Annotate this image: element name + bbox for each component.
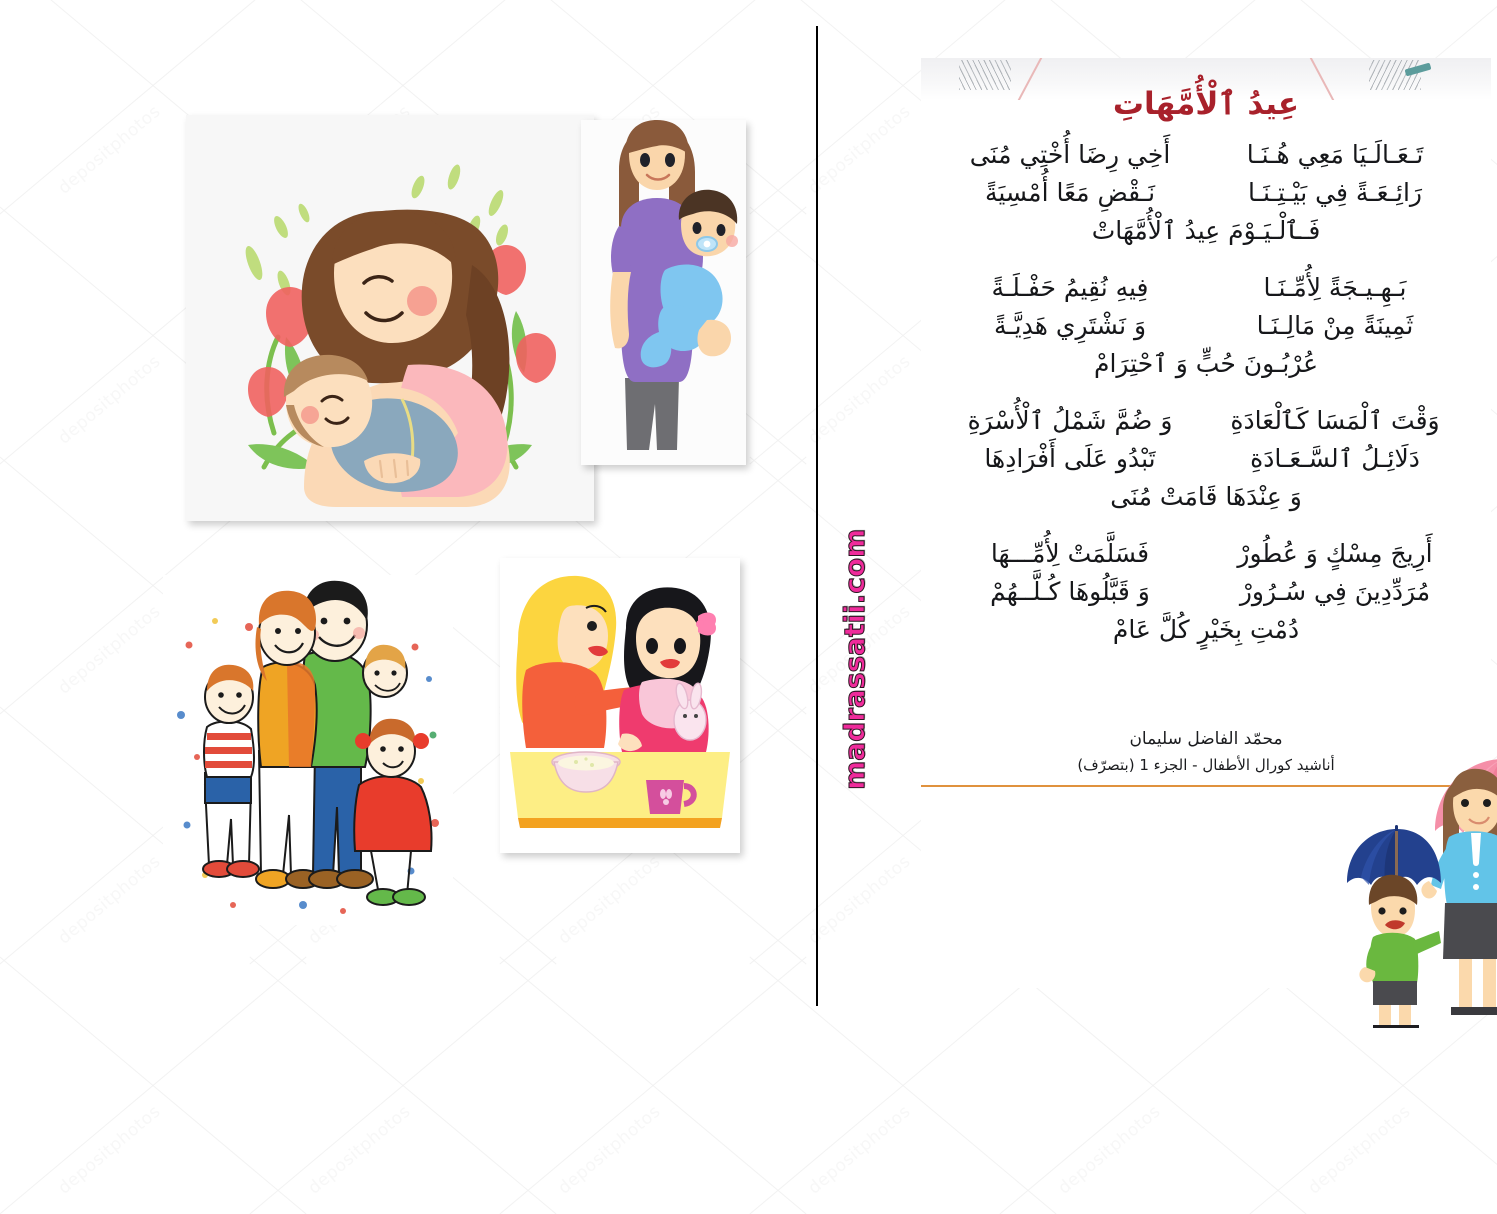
poem-refrain: عُرْبُـونَ حُبٍّ وَ ٱحْتِرَامْ bbox=[853, 345, 1423, 383]
verse-hemistich-a: فَسَلَّمَتْ لِأُمِّـــهَا bbox=[873, 535, 1131, 573]
left-page bbox=[0, 0, 748, 1058]
poem-verse: تَـعَـالَـيَا مَعِي هُـنَـاأَخِي رِضَا أ… bbox=[853, 136, 1423, 174]
verse-hemistich-a: فِيهِ نُقِيمُ حَفْـلَـةً bbox=[873, 269, 1131, 307]
verse-hemistich-b: بَـهِـيـجَةً لِأُمِّـنَـا bbox=[1131, 269, 1403, 307]
poem-stanza: وَقْتَ ٱلْمَسَا كَٱلْعَادَةِوَ ضُمَّ شَم… bbox=[853, 402, 1423, 516]
illustration-mother-carrying-baby bbox=[513, 120, 678, 465]
poem-card: عِيدُ ٱلْأُمَّهَاتِ تَـعَـالَـيَا مَعِي … bbox=[853, 58, 1423, 988]
poem-verse: رَائِـعَـةً فِي بَيْـتِـنَـانَـقْضِ مَعً… bbox=[853, 174, 1423, 212]
watermark-text: depositphotos bbox=[1486, 1101, 1497, 1198]
poem-verse: ثَمِينَةً مِنْ مَالِـنَـاوَ نَشْتَرِي هَ… bbox=[853, 307, 1423, 345]
verse-hemistich-b: أَرِيجَ مِسْكٍ وَ عُطُورْ bbox=[1131, 535, 1403, 573]
verse-hemistich-b: مُرَدِّدِينَ فِي سُـرُورْ bbox=[1131, 573, 1403, 611]
watermark-text: depositphotos bbox=[736, 1101, 846, 1198]
verse-hemistich-a: وَ ضُمَّ شَمْلُ ٱلْأُسْرَةِ bbox=[873, 402, 1131, 440]
poem-author: محمّد الفاضل سليمان bbox=[853, 726, 1423, 753]
verse-hemistich-a: وَ نَشْتَرِي هَدِيَّـةً bbox=[873, 307, 1131, 345]
illustration-mother-child-umbrellas bbox=[1271, 753, 1486, 1028]
watermark-text: depositphotos bbox=[1236, 1101, 1346, 1198]
page-divider bbox=[748, 26, 750, 1006]
watermark-text: depositphotos bbox=[986, 1101, 1096, 1198]
verse-hemistich-b: دَلَائِـلُ ٱلسَّـعَـادَةِ bbox=[1131, 440, 1403, 478]
watermark-text: depositphotos bbox=[236, 1101, 346, 1198]
poem-refrain: دُمْتِ بِخَيْرٍ كُلَّ عَامْ bbox=[853, 611, 1423, 649]
watermark-text: depositphotos bbox=[486, 1101, 596, 1198]
verse-hemistich-b: ثَمِينَةً مِنْ مَالِـنَـا bbox=[1131, 307, 1403, 345]
watermark-text: depositphotos bbox=[0, 1101, 97, 1198]
poem-verse: وَقْتَ ٱلْمَسَا كَٱلْعَادَةِوَ ضُمَّ شَم… bbox=[853, 402, 1423, 440]
right-page: عِيدُ ٱلْأُمَّهَاتِ تَـعَـالَـيَا مَعِي … bbox=[748, 0, 1497, 1058]
poem-verse: مُرَدِّدِينَ فِي سُـرُورْوَ قَبَّلُوهَا … bbox=[853, 573, 1423, 611]
poem-stanza: أَرِيجَ مِسْكٍ وَ عُطُورْفَسَلَّمَتْ لِأ… bbox=[853, 535, 1423, 649]
poem-verse: بَـهِـيـجَةً لِأُمِّـنَـافِيهِ نُقِيمُ ح… bbox=[853, 269, 1423, 307]
poem-stanza: تَـعَـالَـيَا مَعِي هُـنَـاأَخِي رِضَا أ… bbox=[853, 136, 1423, 250]
poem-body: تَـعَـالَـيَا مَعِي هُـنَـاأَخِي رِضَا أ… bbox=[853, 136, 1423, 668]
page-title: عِيدُ ٱلْأُمَّهَاتِ bbox=[853, 86, 1423, 122]
illustration-mother-cradling-baby bbox=[118, 115, 526, 521]
page-sheet: depositphotosdepositphotosdepositphotosd… bbox=[0, 0, 1497, 1058]
poem-refrain: فَـٱلْـيَـوْمَ عِيدُ ٱلْأُمَّهَاتْ bbox=[853, 212, 1423, 250]
verse-hemistich-a: أَخِي رِضَا أُخْتِي مُنَى bbox=[873, 136, 1131, 174]
illustration-mother-feeding-child bbox=[432, 558, 672, 853]
poem-stanza: بَـهِـيـجَةً لِأُمِّـنَـافِيهِ نُقِيمُ ح… bbox=[853, 269, 1423, 383]
verse-hemistich-b: رَائِـعَـةً فِي بَيْـتِـنَـا bbox=[1131, 174, 1403, 212]
poem-refrain: وَ عِنْدَهَا قَامَتْ مُنَى bbox=[853, 478, 1423, 516]
poem-verse: أَرِيجَ مِسْكٍ وَ عُطُورْفَسَلَّمَتْ لِأ… bbox=[853, 535, 1423, 573]
verse-hemistich-b: تَـعَـالَـيَا مَعِي هُـنَـا bbox=[1131, 136, 1403, 174]
verse-hemistich-a: وَ قَبَّلُوهَا كُـلَّــهُمْ bbox=[873, 573, 1131, 611]
verse-hemistich-b: وَقْتَ ٱلْمَسَا كَٱلْعَادَةِ bbox=[1131, 402, 1403, 440]
verse-hemistich-a: تَبْدُو عَلَى أَفْرَادِهَا bbox=[873, 440, 1131, 478]
poem-verse: دَلَائِـلُ ٱلسَّـعَـادَةِتَبْدُو عَلَى أ… bbox=[853, 440, 1423, 478]
site-watermark: madrassatii.com bbox=[770, 529, 803, 790]
illustration-family-portrait bbox=[95, 575, 385, 925]
verse-hemistich-a: نَـقْضِ مَعًا أُمْسِيَةً bbox=[873, 174, 1131, 212]
